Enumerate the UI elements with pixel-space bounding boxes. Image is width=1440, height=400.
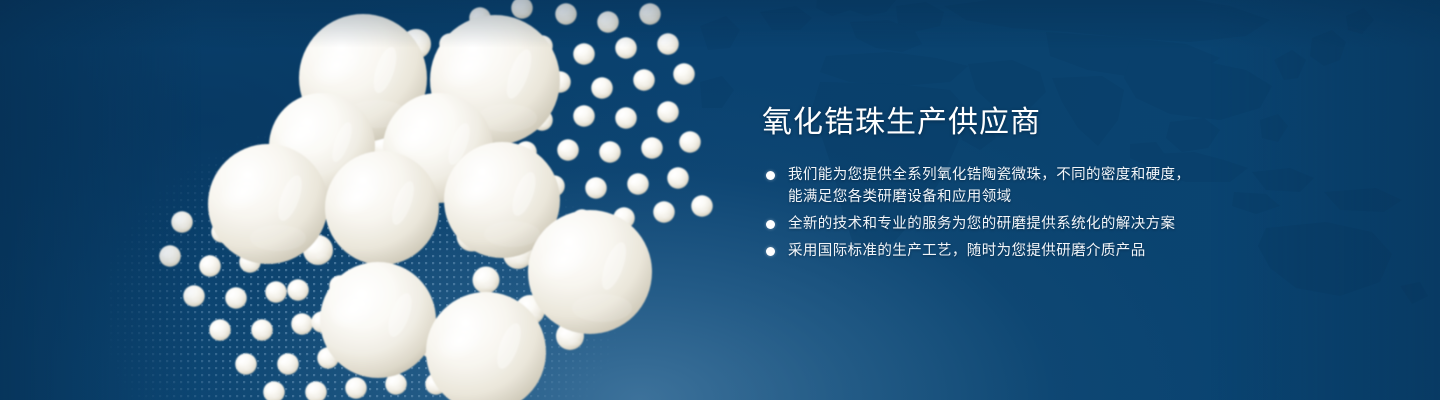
list-item: 我们能为您提供全系列氧化锆陶瓷微珠，不同的密度和硬度， 能满足您各类研磨设备和应… bbox=[762, 164, 1232, 208]
hero-banner: 氧化锆珠生产供应商 我们能为您提供全系列氧化锆陶瓷微珠，不同的密度和硬度， 能满… bbox=[0, 0, 1440, 400]
list-item-label: 采用国际标准的生产工艺，随时为您提供研磨介质产品 bbox=[788, 240, 1232, 262]
page-title: 氧化锆珠生产供应商 bbox=[762, 104, 1232, 142]
list-item-label: 我们能为您提供全系列氧化锆陶瓷微珠，不同的密度和硬度， bbox=[788, 164, 1232, 186]
feature-list: 我们能为您提供全系列氧化锆陶瓷微珠，不同的密度和硬度， 能满足您各类研磨设备和应… bbox=[762, 164, 1232, 262]
list-item: 全新的技术和专业的服务为您的研磨提供系统化的解决方案 bbox=[762, 213, 1232, 235]
bullet-dot-icon bbox=[766, 171, 775, 180]
banner-content: 氧化锆珠生产供应商 我们能为您提供全系列氧化锆陶瓷微珠，不同的密度和硬度， 能满… bbox=[762, 104, 1232, 262]
bullet-dot-icon bbox=[766, 247, 775, 256]
bullet-dot-icon bbox=[766, 220, 775, 229]
list-item-label: 全新的技术和专业的服务为您的研磨提供系统化的解决方案 bbox=[788, 213, 1232, 235]
list-item: 采用国际标准的生产工艺，随时为您提供研磨介质产品 bbox=[762, 240, 1232, 262]
list-item-label: 能满足您各类研磨设备和应用领域 bbox=[788, 186, 1232, 208]
